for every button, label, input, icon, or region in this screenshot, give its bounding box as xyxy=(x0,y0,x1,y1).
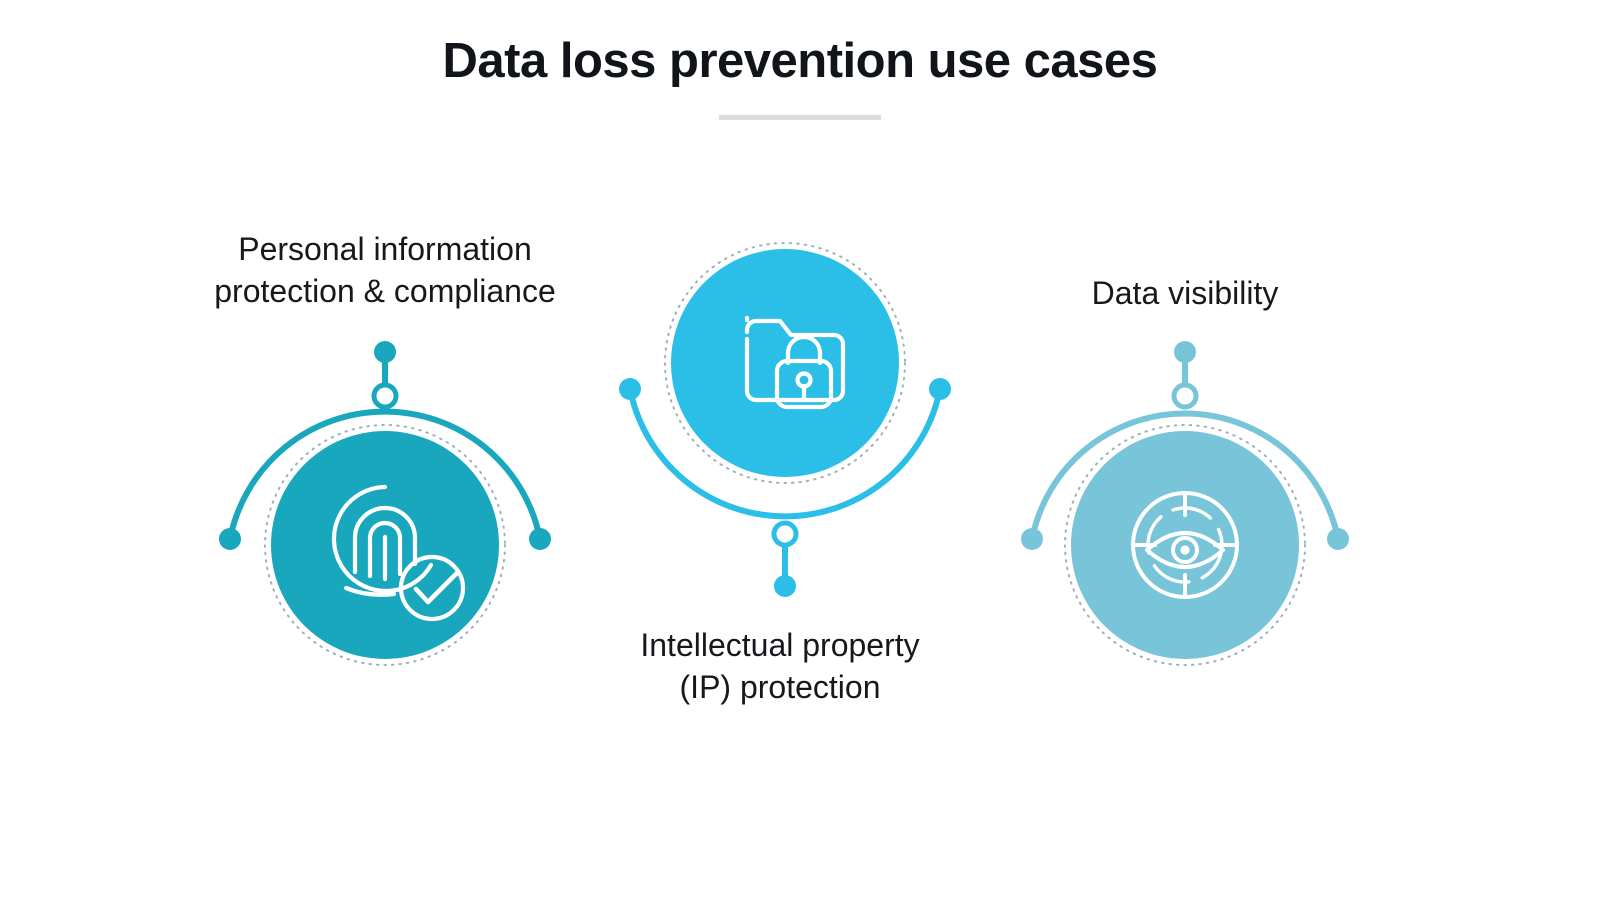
infographic-canvas: Data loss prevention use cases xyxy=(0,0,1600,900)
stem-top-dot xyxy=(1174,341,1196,363)
stem-bottom-dot xyxy=(774,575,796,597)
arc-hub-ring xyxy=(374,385,396,407)
arc-endpoint-dot-left xyxy=(619,378,641,400)
node-circle xyxy=(1071,431,1299,659)
arc-endpoint-dot-right xyxy=(1327,528,1349,550)
node-label-intellectual-property-protection: Intellectual property (IP) protection xyxy=(575,624,985,708)
arc-endpoint-dot-left xyxy=(219,528,241,550)
node-data-visibility[interactable] xyxy=(955,330,1425,700)
node-label-personal-information-protection: Personal information protection & compli… xyxy=(150,228,620,312)
title-block: Data loss prevention use cases xyxy=(0,34,1600,120)
arc-endpoint-dot-right xyxy=(529,528,551,550)
arc-hub-ring xyxy=(1174,385,1196,407)
title-divider xyxy=(719,115,881,120)
page-title: Data loss prevention use cases xyxy=(0,34,1600,89)
arc-endpoint-dot-left xyxy=(1021,528,1043,550)
stem-top-dot xyxy=(374,341,396,363)
arc-endpoint-dot-right xyxy=(929,378,951,400)
node-intellectual-property-protection[interactable] xyxy=(555,240,1015,610)
node-label-data-visibility: Data visibility xyxy=(1030,272,1340,314)
arc-hub-ring xyxy=(774,523,796,545)
node-personal-information-protection[interactable] xyxy=(150,330,620,700)
